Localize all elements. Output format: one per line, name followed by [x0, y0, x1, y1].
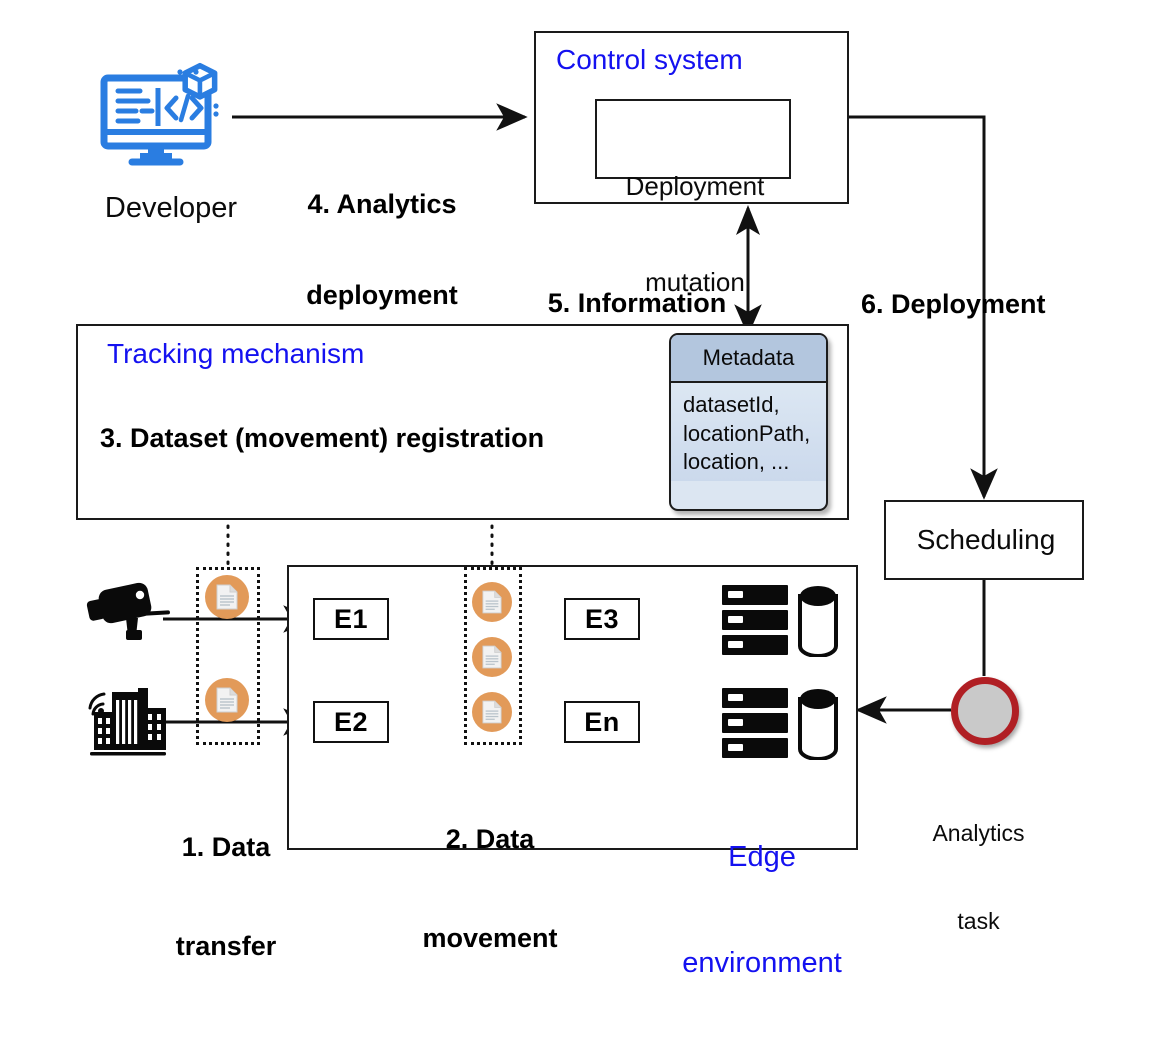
database-cylinder-icon	[800, 689, 836, 759]
step1-line1: 1. Data	[136, 831, 316, 864]
analytics-task-line2: task	[896, 907, 1061, 936]
step4-line1: 4. Analytics	[252, 189, 512, 219]
tracking-mechanism-title: Tracking mechanism	[107, 338, 364, 369]
metadata-card-header: Metadata	[671, 335, 826, 383]
analytics-task-node[interactable]	[951, 677, 1019, 745]
developer-label: Developer	[76, 192, 266, 224]
control-system-box[interactable]: Control system Deployment mutation	[534, 31, 849, 204]
metadata-field-datasetid: datasetId,	[683, 391, 826, 420]
analytics-task-line1: Analytics	[896, 819, 1061, 848]
step2-label: 2. Data movement	[390, 757, 590, 1021]
step5-line1: 5. Information	[492, 288, 782, 318]
step2-line2: movement	[390, 922, 590, 955]
metadata-card[interactable]: Metadata datasetId, locationPath, locati…	[669, 333, 828, 511]
database-cylinder-icon	[800, 586, 836, 656]
metadata-field-location: location, ...	[683, 448, 826, 477]
data-document-icon	[472, 692, 512, 732]
data-document-icon	[205, 678, 249, 722]
edge-node-en[interactable]: En	[564, 701, 640, 743]
smart-building-icon	[82, 678, 174, 758]
analytics-task-label: Analytics task	[896, 760, 1061, 996]
step3-label: 3. Dataset (movement) registration	[100, 423, 544, 453]
edge-title-line2: environment	[664, 946, 860, 981]
scheduling-box[interactable]: Scheduling	[884, 500, 1084, 580]
metadata-card-body: datasetId, locationPath, location, ...	[671, 383, 826, 481]
step1-label: 1. Data transfer	[136, 765, 316, 1029]
data-document-icon	[472, 637, 512, 677]
deployment-mutation-line1: Deployment	[597, 171, 793, 203]
deployment-mutation-box[interactable]: Deployment mutation	[595, 99, 791, 179]
edge-environment-title: Edge environment	[664, 769, 860, 1052]
edge-title-line1: Edge	[664, 840, 860, 875]
edge-node-e3[interactable]: E3	[564, 598, 640, 640]
step4-line2: deployment	[252, 280, 512, 310]
edge-node-e1[interactable]: E1	[313, 598, 389, 640]
edge-node-e2[interactable]: E2	[313, 701, 389, 743]
step1-line2: transfer	[136, 930, 316, 963]
metadata-field-locationpath: locationPath,	[683, 420, 826, 449]
diagram-canvas: Developer 4. Analytics deployment Contro…	[0, 0, 1154, 895]
server-rack-icon	[722, 688, 844, 760]
step6-label: 6. Deployment	[861, 289, 1046, 319]
scheduling-label: Scheduling	[886, 524, 1086, 555]
server-rack-icon	[722, 585, 844, 657]
control-system-title: Control system	[556, 44, 743, 75]
data-document-icon	[205, 575, 249, 619]
developer-workstation-icon	[96, 58, 236, 170]
data-document-icon	[472, 582, 512, 622]
cctv-camera-icon	[82, 578, 170, 648]
step2-line1: 2. Data	[390, 823, 590, 856]
